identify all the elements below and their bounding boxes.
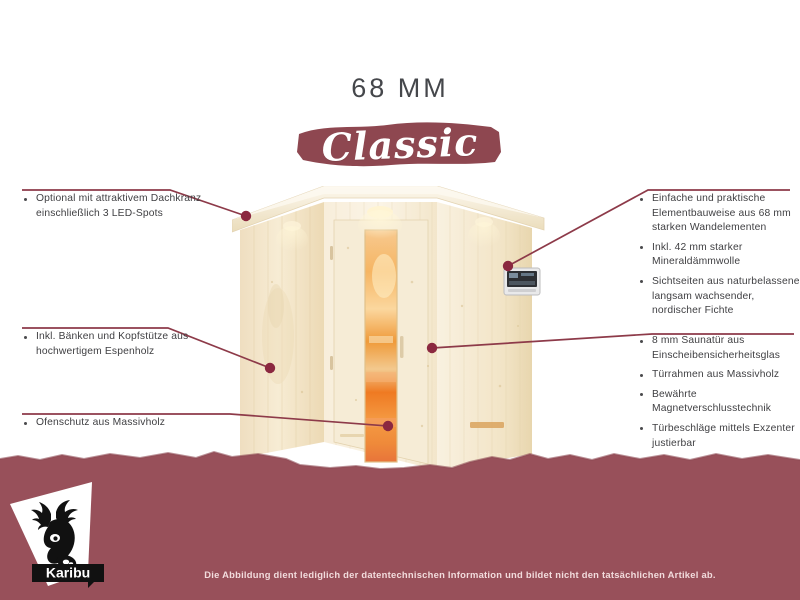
page-title: 68 MM: [0, 73, 800, 104]
callout-item: Bewährte Magnetverschlusstechnik: [638, 388, 800, 417]
model-name: Classic: [294, 114, 506, 174]
callout-item: Inkl. Bänken und Kopfstütze aus hochwert…: [22, 330, 212, 359]
vent-strip: [470, 422, 504, 428]
callout-heater-guard: Ofenschutz aus Massivholz: [22, 416, 222, 436]
model-badge: Classic: [295, 118, 505, 170]
callout-construction: Einfache und praktische Elementbauweise …: [638, 192, 800, 324]
callout-benches: Inkl. Bänken und Kopfstütze aus hochwert…: [22, 330, 212, 364]
callout-item: Ofenschutz aus Massivholz: [22, 416, 222, 431]
door-handle[interactable]: [400, 336, 404, 358]
callout-roof-crown: Optional mit attraktivem Dachkranz einsc…: [22, 192, 212, 226]
logo-brand-text: Karibu: [46, 565, 90, 581]
karibu-logo[interactable]: Karibu: [8, 480, 126, 588]
callout-item: Inkl. 42 mm starker Mineraldämmwolle: [638, 241, 800, 270]
callout-item: Optional mit attraktivem Dachkranz einsc…: [22, 192, 212, 221]
callout-item: Türrahmen aus Massivholz: [638, 368, 800, 383]
callout-item: 8 mm Saunatür aus Einscheibensicherheits…: [638, 334, 800, 363]
callout-item: Sichtseiten aus naturbelassener, langsam…: [638, 275, 800, 319]
poster-canvas: 68 MM Classic: [0, 0, 800, 600]
callout-item: Einfache und praktische Elementbauweise …: [638, 192, 800, 236]
control-panel[interactable]: [504, 268, 540, 295]
